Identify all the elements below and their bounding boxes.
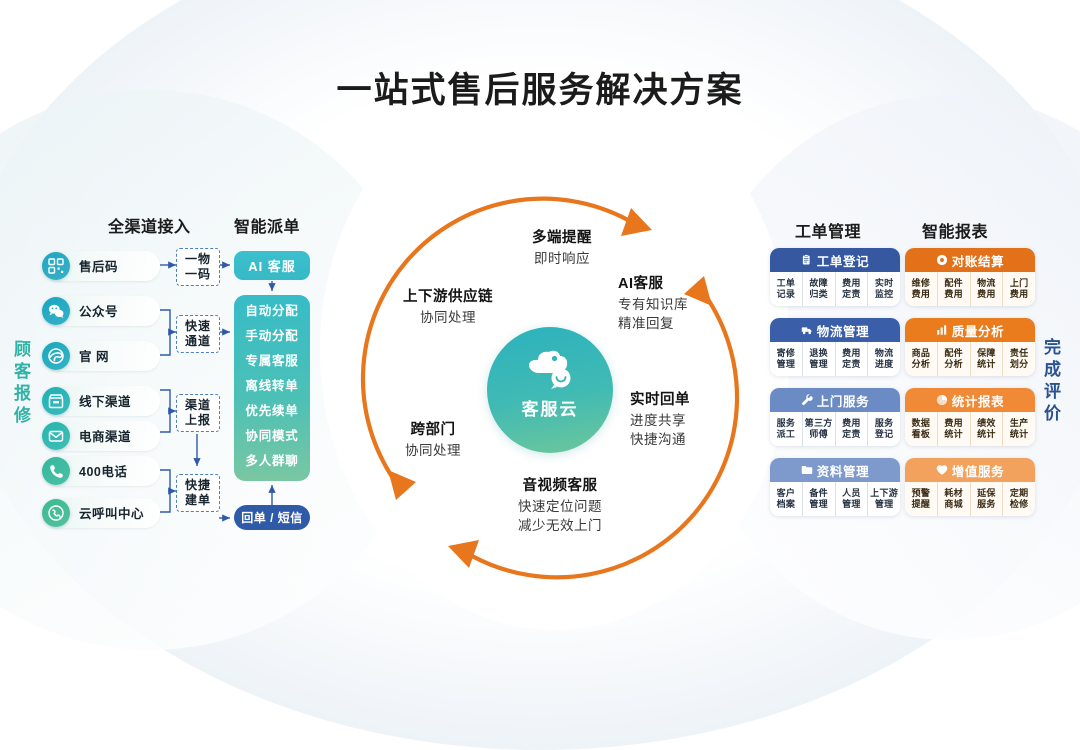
workorder-card-body: 寄修管理退换管理费用定责物流进度 <box>770 342 900 376</box>
workorder-card-header: 工单登记 <box>770 248 900 272</box>
card-cell-3[interactable]: 费用定责 <box>836 412 869 446</box>
orange-card-body: 数据看板费用统计绩效统计生产统计 <box>905 412 1035 446</box>
card-cell-1[interactable]: 寄修管理 <box>770 342 803 376</box>
card-cell-line: 上下游 <box>870 488 898 499</box>
card-cell-line: 检修 <box>1010 499 1029 510</box>
card-cell-3[interactable]: 费用定责 <box>836 272 869 306</box>
card-cell-line: 费用 <box>977 289 996 300</box>
card-cell-4[interactable]: 上下游管理 <box>868 482 900 516</box>
card-cell-line: 派工 <box>777 429 796 440</box>
ring-item-sub: 快速定位问题 <box>490 497 630 516</box>
store-icon <box>42 387 70 415</box>
card-title: 物流管理 <box>817 321 869 340</box>
card-cell-1[interactable]: 工单记录 <box>770 272 803 306</box>
workorder-card-body: 服务派工第三方师傅费用定责服务登记 <box>770 412 900 446</box>
card-cell-line: 划分 <box>1010 359 1029 370</box>
card-cell-4[interactable]: 生产统计 <box>1003 412 1035 446</box>
card-cell-line: 数据 <box>912 418 931 429</box>
card-cell-line: 耗材 <box>944 488 963 499</box>
card-cell-line: 责任 <box>1010 348 1029 359</box>
channel-pill-label: 官 网 <box>79 346 109 365</box>
card-cell-2[interactable]: 故障归类 <box>803 272 836 306</box>
workorder-card-header: 资料管理 <box>770 458 900 482</box>
browser-icon <box>42 342 70 370</box>
channel-pill-label: 云呼叫中心 <box>79 503 144 522</box>
card-cell-line: 配件 <box>944 278 963 289</box>
card-cell-line: 登记 <box>875 429 894 440</box>
workorder-card-3[interactable]: 上门服务服务派工第三方师傅费用定责服务登记 <box>770 388 900 446</box>
ring-item-3: 实时回单进度共享快捷沟通 <box>630 390 770 449</box>
card-title: 增值服务 <box>952 461 1004 480</box>
card-cell-line: 定责 <box>842 429 861 440</box>
card-cell-2[interactable]: 第三方师傅 <box>803 412 836 446</box>
ring-item-2: AI客服专有知识库精准回复 <box>618 274 758 333</box>
orange-card-header: 质量分析 <box>905 318 1035 342</box>
card-cell-4[interactable]: 责任划分 <box>1003 342 1035 376</box>
dispatch-option-3[interactable]: 专属客服 <box>234 349 310 374</box>
ring-item-title: 实时回单 <box>630 390 770 411</box>
workorder-card-2[interactable]: 物流管理寄修管理退换管理费用定责物流进度 <box>770 318 900 376</box>
connector-box-line: 上报 <box>185 413 211 428</box>
orange-card-2[interactable]: 质量分析商品分析配件分析保障统计责任划分 <box>905 318 1035 376</box>
connector-box-2: 快速通道 <box>176 315 220 353</box>
card-cell-line: 统计 <box>944 429 963 440</box>
card-cell-line: 物流 <box>875 348 894 359</box>
card-cell-line: 费用 <box>912 289 931 300</box>
channel-pill-3[interactable]: 官 网 <box>44 341 160 371</box>
dispatch-options-panel: 自动分配手动分配专属客服离线转单优先续单协同模式多人群聊 <box>234 295 310 481</box>
dispatch-option-1[interactable]: 自动分配 <box>234 299 310 324</box>
card-cell-line: 服务 <box>977 499 996 510</box>
card-cell-line: 师傅 <box>809 429 828 440</box>
channel-pill-5[interactable]: 电商渠道 <box>44 421 160 451</box>
card-cell-line: 上门 <box>1010 278 1029 289</box>
truck-icon <box>801 324 813 336</box>
connector-box-1: 一物一码 <box>176 248 220 286</box>
connector-box-line: 一码 <box>185 267 211 282</box>
card-cell-1[interactable]: 维修费用 <box>905 272 938 306</box>
page-title: 一站式售后服务解决方案 <box>0 62 1080 113</box>
card-cell-line: 人员 <box>842 488 861 499</box>
card-cell-4[interactable]: 实时监控 <box>868 272 900 306</box>
card-cell-3[interactable]: 费用定责 <box>836 342 869 376</box>
dispatch-option-4[interactable]: 离线转单 <box>234 374 310 399</box>
orange-card-body: 商品分析配件分析保障统计责任划分 <box>905 342 1035 376</box>
bars-icon <box>936 324 948 336</box>
channel-pill-6[interactable]: 400电话 <box>44 456 160 486</box>
card-cell-line: 配件 <box>944 348 963 359</box>
orange-card-header: 增值服务 <box>905 458 1035 482</box>
card-cell-3[interactable]: 保障统计 <box>971 342 1004 376</box>
card-cell-line: 服务 <box>875 418 894 429</box>
qrcode-icon <box>42 252 70 280</box>
card-cell-1[interactable]: 客户档案 <box>770 482 803 516</box>
card-title: 对账结算 <box>952 251 1004 270</box>
card-cell-2[interactable]: 耗材商城 <box>938 482 971 516</box>
connector-box-line: 建单 <box>185 493 211 508</box>
card-cell-line: 实时 <box>875 278 894 289</box>
ring-item-title: 上下游供应链 <box>378 287 518 308</box>
orange-card-body: 预警提醒耗材商城延保服务定期检修 <box>905 482 1035 516</box>
ring-item-title: 跨部门 <box>378 420 488 441</box>
card-cell-1[interactable]: 预警提醒 <box>905 482 938 516</box>
card-cell-line: 故障 <box>809 278 828 289</box>
card-cell-line: 看板 <box>912 429 931 440</box>
connector-box-3: 渠道上报 <box>176 394 220 432</box>
card-cell-line: 生产 <box>1010 418 1029 429</box>
dispatch-option-7[interactable]: 多人群聊 <box>234 449 310 474</box>
card-cell-line: 商城 <box>944 499 963 510</box>
card-cell-line: 定责 <box>842 289 861 300</box>
clipboard-icon <box>801 254 813 266</box>
card-title: 统计报表 <box>952 391 1004 410</box>
channel-pill-label: 公众号 <box>79 301 118 320</box>
card-cell-line: 管理 <box>809 499 828 510</box>
card-title: 工单登记 <box>817 251 869 270</box>
dispatch-option-2[interactable]: 手动分配 <box>234 324 310 349</box>
wechat-icon <box>42 297 70 325</box>
ring-item-title: 音视频客服 <box>490 476 630 497</box>
orange-card-header: 对账结算 <box>905 248 1035 272</box>
ring-item-sub: 进度共享 <box>630 411 770 430</box>
orange-card-4[interactable]: 增值服务预警提醒耗材商城延保服务定期检修 <box>905 458 1035 516</box>
workorder-card-1[interactable]: 工单登记工单记录故障归类费用定责实时监控 <box>770 248 900 306</box>
coin-icon <box>936 254 948 266</box>
reply-sms-button[interactable]: 回单 / 短信 <box>234 505 310 530</box>
ring-item-sub: 快捷沟通 <box>630 430 770 449</box>
channel-pill-1[interactable]: 售后码 <box>44 251 160 281</box>
card-cell-2[interactable]: 退换管理 <box>803 342 836 376</box>
connector-box-4: 快捷建单 <box>176 474 220 512</box>
card-cell-line: 分析 <box>912 359 931 370</box>
ring-item-sub: 即时响应 <box>502 249 622 268</box>
workorder-card-header: 物流管理 <box>770 318 900 342</box>
orange-card-3[interactable]: 统计报表数据看板费用统计绩效统计生产统计 <box>905 388 1035 446</box>
ring-item-4: 音视频客服快速定位问题减少无效上门 <box>490 476 630 535</box>
card-cell-line: 物流 <box>977 278 996 289</box>
card-cell-1[interactable]: 服务派工 <box>770 412 803 446</box>
card-cell-line: 费用 <box>842 348 861 359</box>
center-badge-customer-service-cloud: 客服云 <box>487 327 613 453</box>
orange-card-body: 维修费用配件费用物流费用上门费用 <box>905 272 1035 306</box>
wrench-icon <box>801 394 813 406</box>
workorder-card-body: 客户档案备件管理人员管理上下游管理 <box>770 482 900 516</box>
ring-item-sub: 减少无效上门 <box>490 516 630 535</box>
heading-smart-report: 智能报表 <box>922 218 988 242</box>
card-cell-4[interactable]: 上门费用 <box>1003 272 1035 306</box>
card-cell-line: 维修 <box>912 278 931 289</box>
card-cell-line: 延保 <box>977 488 996 499</box>
folder-icon <box>801 464 813 476</box>
card-cell-line: 绩效 <box>977 418 996 429</box>
channel-pill-label: 400电话 <box>79 461 127 480</box>
orange-card-1[interactable]: 对账结算维修费用配件费用物流费用上门费用 <box>905 248 1035 306</box>
card-cell-line: 档案 <box>777 499 796 510</box>
ai-service-button[interactable]: AI 客服 <box>234 251 310 280</box>
card-cell-line: 商品 <box>912 348 931 359</box>
card-cell-2[interactable]: 配件分析 <box>938 342 971 376</box>
ring-item-sub: 协同处理 <box>378 441 488 460</box>
center-badge-label: 客服云 <box>522 395 579 420</box>
heading-smart-dispatch: 智能派单 <box>234 213 300 237</box>
card-cell-1[interactable]: 商品分析 <box>905 342 938 376</box>
phone-icon <box>42 457 70 485</box>
card-cell-line: 预警 <box>912 488 931 499</box>
card-cell-line: 进度 <box>875 359 894 370</box>
channel-pill-2[interactable]: 公众号 <box>44 296 160 326</box>
call-center-icon <box>42 499 70 527</box>
card-title: 资料管理 <box>817 461 869 480</box>
workorder-card-body: 工单记录故障归类费用定责实时监控 <box>770 272 900 306</box>
card-cell-2[interactable]: 费用统计 <box>938 412 971 446</box>
ring-item-6: 上下游供应链协同处理 <box>378 287 518 327</box>
card-cell-line: 费用 <box>944 289 963 300</box>
connector-box-line: 快捷 <box>185 478 211 493</box>
card-cell-line: 第三方 <box>805 418 833 429</box>
card-cell-3[interactable]: 人员管理 <box>836 482 869 516</box>
channel-pill-label: 电商渠道 <box>79 426 131 445</box>
card-cell-2[interactable]: 备件管理 <box>803 482 836 516</box>
ring-item-sub: 精准回复 <box>618 314 758 333</box>
card-cell-line: 统计 <box>977 429 996 440</box>
ring-item-1: 多端提醒即时响应 <box>502 228 622 268</box>
pie-icon <box>936 394 948 406</box>
connector-box-line: 渠道 <box>185 398 211 413</box>
card-cell-line: 保障 <box>977 348 996 359</box>
card-title: 质量分析 <box>952 321 1004 340</box>
cloud-chat-logo-icon <box>524 349 576 389</box>
card-cell-line: 工单 <box>777 278 796 289</box>
card-cell-line: 费用 <box>1010 289 1029 300</box>
card-cell-line: 定责 <box>842 359 861 370</box>
card-cell-line: 客户 <box>777 488 796 499</box>
card-cell-3[interactable]: 延保服务 <box>971 482 1004 516</box>
card-cell-line: 分析 <box>944 359 963 370</box>
dispatch-option-6[interactable]: 协同模式 <box>234 424 310 449</box>
ring-item-sub: 专有知识库 <box>618 295 758 314</box>
card-cell-line: 管理 <box>809 359 828 370</box>
channel-pill-4[interactable]: 线下渠道 <box>44 386 160 416</box>
card-cell-line: 费用 <box>842 278 861 289</box>
card-cell-line: 退换 <box>809 348 828 359</box>
channel-pill-label: 线下渠道 <box>79 391 131 410</box>
orange-card-header: 统计报表 <box>905 388 1035 412</box>
card-cell-2[interactable]: 配件费用 <box>938 272 971 306</box>
card-cell-line: 备件 <box>809 488 828 499</box>
card-cell-line: 管理 <box>842 499 861 510</box>
card-cell-line: 服务 <box>777 418 796 429</box>
card-cell-line: 归类 <box>809 289 828 300</box>
card-cell-line: 费用 <box>842 418 861 429</box>
heading-work-order: 工单管理 <box>795 218 861 242</box>
dispatch-option-5[interactable]: 优先续单 <box>234 399 310 424</box>
card-cell-line: 统计 <box>1010 429 1029 440</box>
card-cell-line: 寄修 <box>777 348 796 359</box>
right-vertical-label: 完成评价 <box>1038 338 1063 426</box>
channel-pill-7[interactable]: 云呼叫中心 <box>44 498 160 528</box>
channel-pill-label: 售后码 <box>79 256 118 275</box>
card-cell-line: 管理 <box>875 499 894 510</box>
card-cell-line: 提醒 <box>912 499 931 510</box>
card-cell-4[interactable]: 服务登记 <box>868 412 900 446</box>
mail-icon <box>42 422 70 450</box>
card-cell-line: 统计 <box>977 359 996 370</box>
workorder-card-4[interactable]: 资料管理客户档案备件管理人员管理上下游管理 <box>770 458 900 516</box>
ring-item-title: 多端提醒 <box>502 228 622 249</box>
heading-channel-access: 全渠道接入 <box>108 213 191 237</box>
card-cell-3[interactable]: 绩效统计 <box>971 412 1004 446</box>
card-cell-1[interactable]: 数据看板 <box>905 412 938 446</box>
card-cell-3[interactable]: 物流费用 <box>971 272 1004 306</box>
left-vertical-label: 顾客报修 <box>8 340 33 428</box>
card-title: 上门服务 <box>817 391 869 410</box>
ring-item-5: 跨部门协同处理 <box>378 420 488 460</box>
card-cell-line: 管理 <box>777 359 796 370</box>
card-cell-4[interactable]: 定期检修 <box>1003 482 1035 516</box>
card-cell-line: 定期 <box>1010 488 1029 499</box>
ring-item-title: AI客服 <box>618 274 758 295</box>
card-cell-line: 记录 <box>777 289 796 300</box>
card-cell-line: 费用 <box>944 418 963 429</box>
ring-item-sub: 协同处理 <box>378 308 518 327</box>
heart-icon <box>936 464 948 476</box>
connector-box-line: 一物 <box>185 252 211 267</box>
card-cell-4[interactable]: 物流进度 <box>868 342 900 376</box>
card-cell-line: 监控 <box>875 289 894 300</box>
workorder-card-header: 上门服务 <box>770 388 900 412</box>
connector-box-line: 通道 <box>185 334 211 349</box>
connector-box-line: 快速 <box>185 319 211 334</box>
